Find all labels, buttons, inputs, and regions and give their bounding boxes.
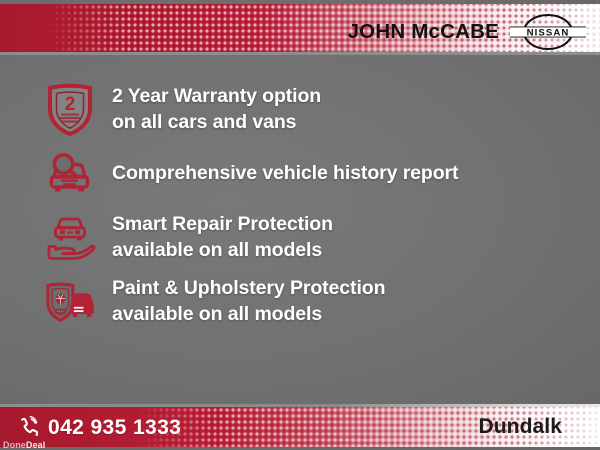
dealer-location-label: Dundalk [478,415,562,439]
car-on-hand-repair-icon [44,212,96,264]
list-item-label: Smart Repair Protection available on all… [112,212,333,263]
shield-gem-car-paint-icon [44,276,96,328]
dealer-name-part1: JOHN Mc [348,20,441,43]
watermark-part2: Deal [26,440,45,450]
shield-warranty-icon: 2 [44,84,96,136]
dealer-name-part2: CABE [440,20,499,43]
list-item: 2 2 Year Warranty option on all cars and… [0,78,600,142]
header-divider [0,52,600,55]
nissan-logo-icon: NISSAN [510,14,586,50]
list-item: Smart Repair Protection available on all… [0,206,600,270]
nissan-wordmark: NISSAN [527,27,570,38]
dealer-location: Dundalk [478,407,562,447]
feature-list: 2 2 Year Warranty option on all cars and… [0,78,600,334]
header-bar: JOHN McCABE NISSAN [0,4,600,52]
list-item: Comprehensive vehicle history report [0,142,600,206]
donedeal-watermark: DoneDeal [3,441,45,450]
warranty-years-number: 2 [65,94,76,115]
dealer-name: JOHN McCABE [348,22,499,43]
watermark-part1: Done [3,440,26,450]
phone-number: 042 935 1333 [48,417,181,438]
list-item-label: Paint & Upholstery Protection available … [112,276,385,327]
brand-lockup: JOHN McCABE NISSAN [348,14,586,50]
footer-bar: 042 935 1333 Dundalk [0,407,600,447]
car-magnifier-history-icon [44,148,96,200]
phone-ringing-icon [18,416,38,438]
list-item-label: Comprehensive vehicle history report [112,161,458,187]
list-item-label: 2 Year Warranty option on all cars and v… [112,84,321,135]
list-item: Paint & Upholstery Protection available … [0,270,600,334]
dealer-promo-banner: JOHN McCABE NISSAN 2 [0,0,600,450]
